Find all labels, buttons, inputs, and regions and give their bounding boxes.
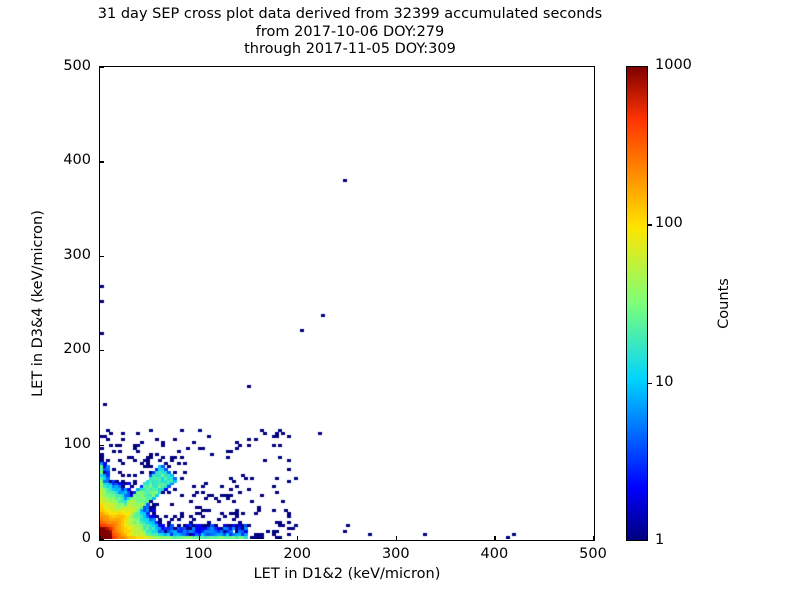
x-tick-label: 400 <box>464 546 524 562</box>
colorbar-tick-label: 100 <box>655 215 683 231</box>
chart-title-line-3: through 2017-11-05 DOY:309 <box>0 41 700 59</box>
y-tick-mark <box>100 161 104 162</box>
x-tick-mark <box>297 536 298 540</box>
y-tick-mark <box>100 350 104 351</box>
x-axis-label: LET in D1&2 (keV/micron) <box>99 566 595 582</box>
y-tick-mark <box>100 445 104 446</box>
plot-axes <box>99 66 595 541</box>
y-axis-label: LET in D3&4 (keV/micron) <box>30 66 46 541</box>
x-tick-label: 200 <box>267 546 327 562</box>
colorbar-label: Counts <box>716 66 732 541</box>
chart-title: 31 day SEP cross plot data derived from … <box>0 6 700 59</box>
colorbar-gradient <box>626 66 648 541</box>
colorbar-tick-mark <box>648 383 652 384</box>
colorbar: 1101001000 <box>626 66 648 541</box>
y-tick-mark <box>100 539 104 540</box>
x-tick-mark <box>593 536 594 540</box>
x-tick-label: 300 <box>366 546 426 562</box>
x-tick-mark <box>199 536 200 540</box>
x-tick-mark <box>396 536 397 540</box>
colorbar-tick-mark <box>648 224 652 225</box>
x-tick-mark <box>494 536 495 540</box>
chart-title-line-2: from 2017-10-06 DOY:279 <box>0 24 700 42</box>
colorbar-tick-label: 1 <box>655 532 664 548</box>
x-tick-label: 0 <box>70 546 130 562</box>
figure-canvas: 31 day SEP cross plot data derived from … <box>0 0 800 600</box>
colorbar-tick-label: 1000 <box>655 57 692 73</box>
y-tick-mark <box>100 67 104 68</box>
chart-title-line-1: 31 day SEP cross plot data derived from … <box>0 6 700 24</box>
x-tick-label: 500 <box>563 546 623 562</box>
y-tick-mark <box>100 256 104 257</box>
scatter-heatmap-canvas <box>100 67 593 539</box>
x-tick-label: 100 <box>169 546 229 562</box>
colorbar-tick-label: 10 <box>655 374 673 390</box>
